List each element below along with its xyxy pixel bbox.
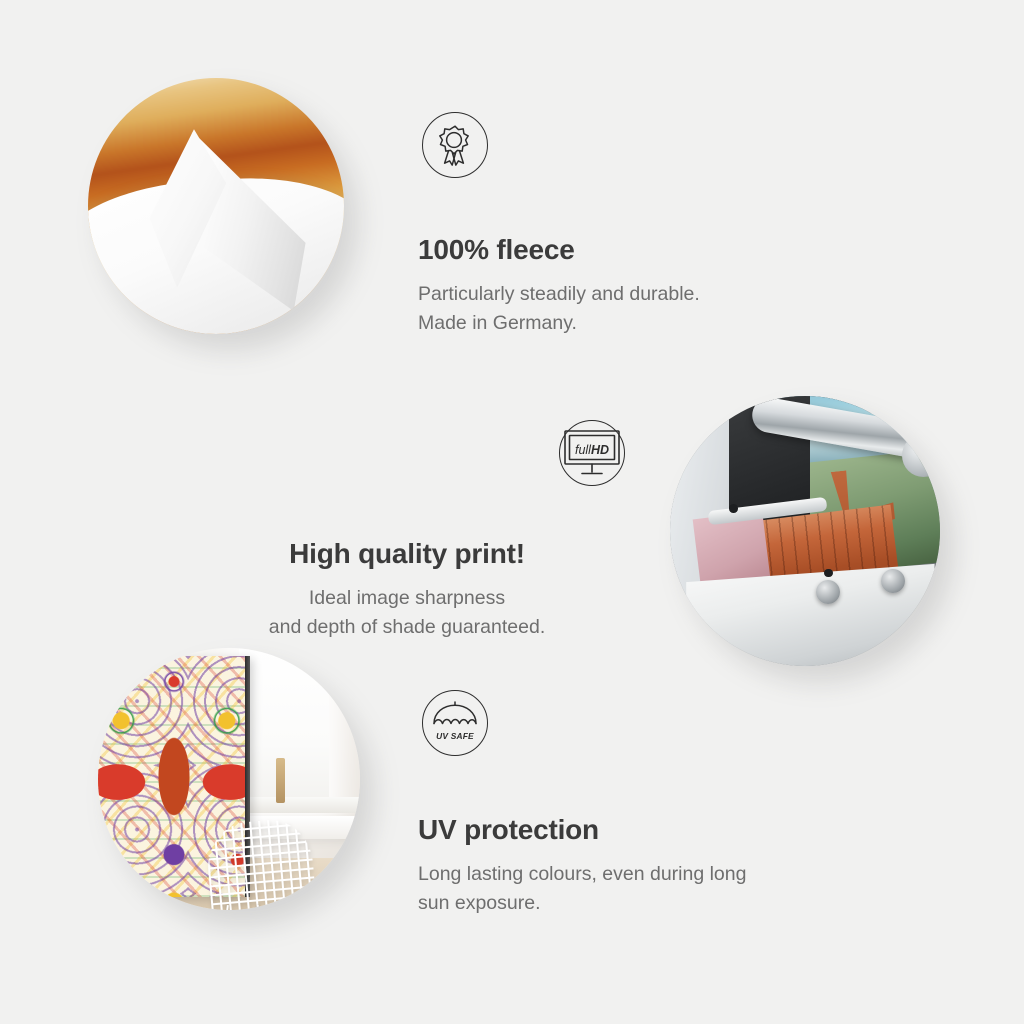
printer-bolt <box>729 504 738 513</box>
feature-description: Ideal image sharpness and depth of shade… <box>187 584 627 642</box>
award-rosette-icon <box>422 112 488 178</box>
uv-safe-umbrella-icon: UV SAFE <box>422 690 488 756</box>
feature-block-uv: UV SAFE UV protection Long lasting colou… <box>418 690 868 918</box>
uv-safe-label: UV SAFE <box>436 731 474 741</box>
mandala-wallpaper-interior-photo <box>98 648 360 910</box>
icon-row: fullHD <box>187 420 627 486</box>
feature-description: Long lasting colours, even during long s… <box>418 860 868 918</box>
feature-block-print: fullHD High quality print! Ideal image s… <box>187 420 627 642</box>
printer-roller-cap <box>902 434 940 477</box>
large-format-printer-photo <box>670 396 940 666</box>
full-hd-label: fullHD <box>575 443 609 457</box>
feature-title: 100% fleece <box>418 234 858 266</box>
printer-bolt <box>824 569 833 578</box>
feature-title: UV protection <box>418 814 868 846</box>
printer-knob <box>816 580 840 604</box>
candle-holder <box>276 758 284 803</box>
printer-knob <box>881 569 905 593</box>
feature-title: High quality print! <box>187 538 627 570</box>
feature-block-fleece: 100% fleece Particularly steadily and du… <box>418 112 858 338</box>
peeling-fleece-wallpaper-photo <box>88 78 344 334</box>
full-hd-monitor-icon: fullHD <box>559 420 625 486</box>
feature-highlights-page: 100% fleece Particularly steadily and du… <box>0 0 1024 1024</box>
feature-description: Particularly steadily and durable. Made … <box>418 280 858 338</box>
wire-chair <box>208 821 313 910</box>
wire-chair-mesh <box>204 817 316 910</box>
